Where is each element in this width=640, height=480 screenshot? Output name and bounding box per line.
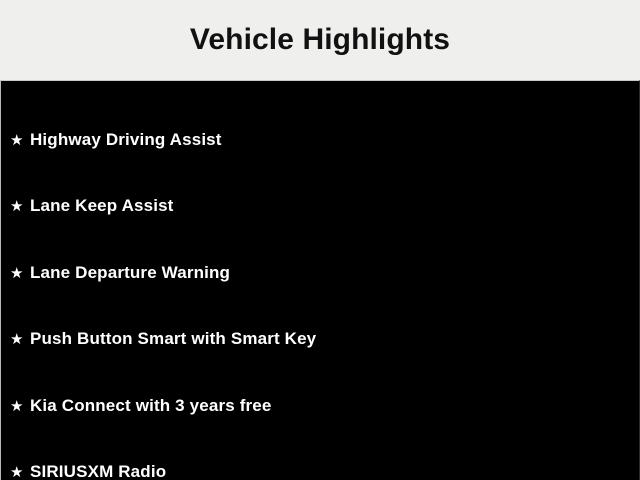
- star-icon: ★: [10, 465, 30, 480]
- page-title: Vehicle Highlights: [190, 25, 450, 55]
- highlights-panel: ★ Highway Driving Assist ★ Lane Keep Ass…: [0, 80, 640, 480]
- list-item: ★ SIRIUSXM Radio: [1, 440, 639, 480]
- list-item-label: Lane Keep Assist: [30, 197, 639, 216]
- star-icon: ★: [10, 399, 30, 414]
- list-item-label: Kia Connect with 3 years free: [30, 397, 639, 416]
- list-item: ★ Lane Departure Warning: [1, 240, 639, 307]
- star-icon: ★: [10, 332, 30, 347]
- vehicle-highlights-widget: Vehicle Highlights ★ Highway Driving Ass…: [0, 0, 640, 480]
- list-item: ★ Highway Driving Assist: [1, 107, 639, 174]
- list-item-label: Push Button Smart with Smart Key: [30, 330, 639, 349]
- star-icon: ★: [10, 266, 30, 281]
- list-item-label: Highway Driving Assist: [30, 131, 639, 150]
- list-item-label: SIRIUSXM Radio: [30, 463, 639, 480]
- header: Vehicle Highlights: [0, 0, 640, 80]
- list-item-label: Lane Departure Warning: [30, 264, 639, 283]
- star-icon: ★: [10, 133, 30, 148]
- list-item: ★ Push Button Smart with Smart Key: [1, 307, 639, 374]
- highlights-list: ★ Highway Driving Assist ★ Lane Keep Ass…: [1, 107, 639, 480]
- list-item: ★ Lane Keep Assist: [1, 174, 639, 241]
- star-icon: ★: [10, 199, 30, 214]
- list-item: ★ Kia Connect with 3 years free: [1, 373, 639, 440]
